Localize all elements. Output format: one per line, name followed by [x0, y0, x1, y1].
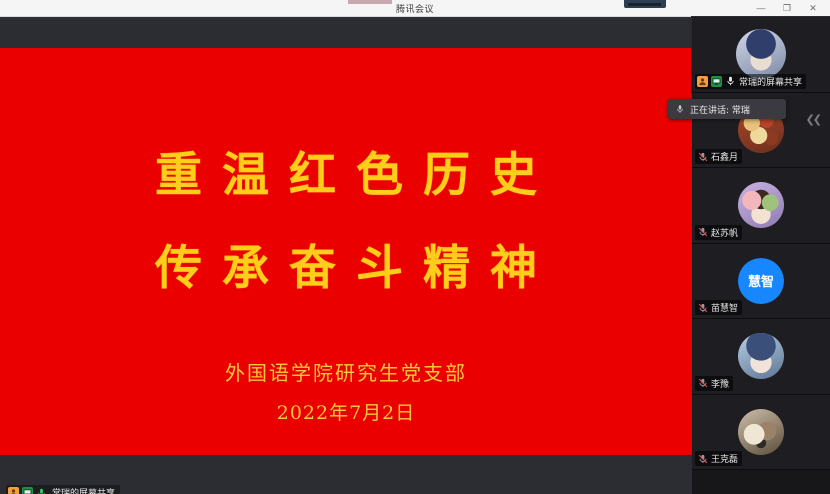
- slide-title-line-2: 传承奋斗精神: [135, 245, 557, 292]
- microphone-muted-icon: [697, 302, 708, 313]
- participant-name-6: 王克磊: [711, 452, 738, 465]
- avatar-initials: 慧智: [738, 258, 784, 304]
- tencent-meeting-window: 腾讯会议 — ❐ ✕ 重温红色历史 传承奋斗精神 外国语学院研究生党支部 202…: [0, 0, 830, 494]
- participant-namebar-2: 石鑫月: [695, 149, 742, 164]
- slide-subtitle-organization: 外国语学院研究生党支部: [225, 363, 467, 383]
- slide-subtitle-date: 2022年7月2日: [277, 404, 416, 423]
- taskbar-preview-stub: [624, 0, 666, 8]
- slide-content: 重温红色历史 传承奋斗精神 外国语学院研究生党支部 2022年7月2日: [0, 48, 692, 455]
- participant-name-2: 石鑫月: [711, 150, 738, 163]
- participant-namebar-3: 赵苏帆: [695, 225, 742, 240]
- minimize-button[interactable]: —: [748, 0, 774, 17]
- participant-tile-6[interactable]: 王克磊: [692, 395, 830, 471]
- microphone-muted-icon: [697, 227, 708, 238]
- avatar: [738, 182, 784, 228]
- avatar: [738, 409, 784, 455]
- background-tab-stub: [348, 0, 392, 4]
- participant-tile-4[interactable]: 慧智 苗慧智: [692, 244, 830, 320]
- avatar: [738, 333, 784, 379]
- avatar-photo-anime-icon: [738, 182, 784, 228]
- window-controls: — ❐ ✕: [748, 0, 826, 17]
- host-badge-icon: [8, 487, 19, 494]
- screen-share-icon: [711, 76, 722, 87]
- avatar-photo-boy-icon: [736, 29, 786, 79]
- screen-share-top-letterbox: [0, 17, 692, 48]
- screen-share-indicator-label: 常瑞的屏幕共享: [52, 486, 115, 494]
- avatar: [736, 29, 786, 79]
- microphone-icon: [36, 487, 47, 494]
- avatar-photo-girl-icon: [738, 333, 784, 379]
- participant-tile-3[interactable]: 赵苏帆: [692, 168, 830, 244]
- participant-tile-5[interactable]: 李豫: [692, 319, 830, 395]
- participant-namebar-6: 王克磊: [695, 451, 742, 466]
- microphone-icon: [674, 104, 685, 115]
- host-badge-icon: [697, 76, 708, 87]
- participant-name-5: 李豫: [711, 377, 729, 390]
- participant-namebar-4: 苗慧智: [695, 300, 742, 315]
- microphone-muted-icon: [697, 151, 708, 162]
- screen-share-icon: [22, 487, 33, 494]
- microphone-icon: [725, 76, 736, 87]
- speaking-tooltip-text: 正在讲话: 常瑞: [690, 103, 750, 116]
- maximize-button[interactable]: ❐: [774, 0, 800, 17]
- window-title: 腾讯会议: [396, 2, 434, 15]
- microphone-muted-icon: [697, 378, 708, 389]
- screen-share-indicator: 常瑞的屏幕共享: [6, 485, 120, 494]
- participant-name-4: 苗慧智: [711, 301, 738, 314]
- shared-screen-view[interactable]: 重温红色历史 传承奋斗精神 外国语学院研究生党支部 2022年7月2日: [0, 48, 692, 455]
- participant-tile-1[interactable]: 常瑞的屏幕共享: [692, 17, 830, 93]
- window-titlebar: 腾讯会议 — ❐ ✕: [0, 0, 830, 17]
- participant-namebar-1: 常瑞的屏幕共享: [695, 74, 806, 89]
- participant-name-3: 赵苏帆: [711, 226, 738, 239]
- participant-name-1: 常瑞的屏幕共享: [739, 75, 802, 88]
- speaking-tooltip: 正在讲话: 常瑞: [668, 99, 786, 119]
- participant-sidebar[interactable]: 常瑞的屏幕共享 石鑫月: [692, 17, 830, 494]
- avatar: 慧智: [738, 258, 784, 304]
- meeting-shell: 重温红色历史 传承奋斗精神 外国语学院研究生党支部 2022年7月2日 常瑞的屏…: [0, 17, 830, 494]
- close-button[interactable]: ✕: [800, 0, 826, 17]
- microphone-muted-icon: [697, 453, 708, 464]
- participant-namebar-5: 李豫: [695, 376, 733, 391]
- avatar-photo-dog-icon: [738, 409, 784, 455]
- scroll-left-hint-icon[interactable]: ❮❮: [806, 113, 820, 126]
- slide-title-line-1: 重温红色历史: [135, 152, 557, 199]
